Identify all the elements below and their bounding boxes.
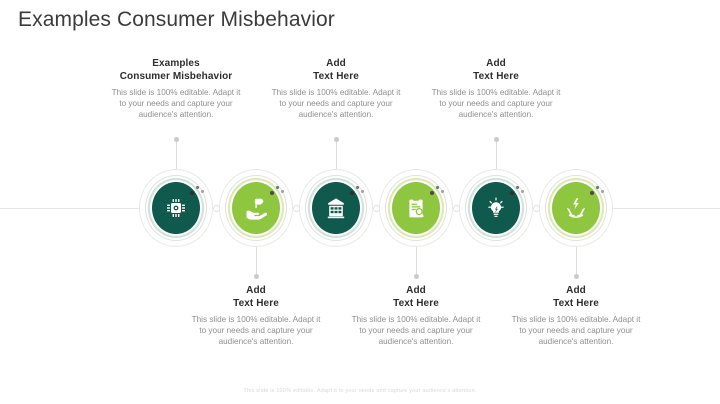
node-accent-dots <box>270 184 288 198</box>
block-body-3: This slide is 100% editable. Adapt it to… <box>256 87 416 120</box>
block-heading-line2: Consumer Misbehavior <box>120 71 233 82</box>
microchip-icon <box>164 196 188 220</box>
clipboard-search-icon <box>404 196 428 220</box>
timeline-nodes: Examples Consumer Misbehavior This slide… <box>0 0 720 404</box>
text-block-3: Add Text Here This slide is 100% editabl… <box>256 58 416 120</box>
node-accent-dots <box>510 184 528 198</box>
block-heading-line2: Text Here <box>233 298 279 309</box>
bank-building-icon <box>324 196 348 220</box>
connector-cap-4 <box>414 274 419 279</box>
hand-holding-plant-icon <box>243 195 269 221</box>
block-heading-line2: Text Here <box>313 71 359 82</box>
text-block-1: Examples Consumer Misbehavior This slide… <box>96 58 256 120</box>
block-body-1: This slide is 100% editable. Adapt it to… <box>96 87 256 120</box>
connector-cap-3 <box>334 137 339 142</box>
block-heading-line1: Add <box>246 285 266 296</box>
node-accent-dots <box>190 184 208 198</box>
slide-footer-note: This slide is 100% editable. Adapt it to… <box>0 388 720 394</box>
block-body-2: This slide is 100% editable. Adapt it to… <box>176 314 336 347</box>
node-accent-dots <box>430 184 448 198</box>
block-heading-line2: Text Here <box>553 298 599 309</box>
node-accent-dots <box>350 184 368 198</box>
text-block-4: Add Text Here This slide is 100% editabl… <box>336 285 496 347</box>
block-heading-line2: Text Here <box>393 298 439 309</box>
connector-cap-1 <box>174 137 179 142</box>
connector-cap-5 <box>494 137 499 142</box>
lightbulb-idea-icon <box>484 196 508 220</box>
hands-energy-bolt-icon <box>563 195 589 221</box>
block-heading-line1: Add <box>406 285 426 296</box>
presentation-slide: Examples Consumer Misbehavior Examples C… <box>0 0 720 404</box>
block-heading-line1: Add <box>566 285 586 296</box>
block-body-4: This slide is 100% editable. Adapt it to… <box>336 314 496 347</box>
node-accent-dots <box>590 184 608 198</box>
connector-cap-6 <box>574 274 579 279</box>
text-block-6: Add Text Here This slide is 100% editabl… <box>496 285 656 347</box>
block-heading-line1: Add <box>486 58 506 69</box>
block-heading-line1: Add <box>326 58 346 69</box>
text-block-5: Add Text Here This slide is 100% editabl… <box>416 58 576 120</box>
block-body-5: This slide is 100% editable. Adapt it to… <box>416 87 576 120</box>
block-heading-line1: Examples <box>152 58 200 69</box>
connector-cap-2 <box>254 274 259 279</box>
block-body-6: This slide is 100% editable. Adapt it to… <box>496 314 656 347</box>
text-block-2: Add Text Here This slide is 100% editabl… <box>176 285 336 347</box>
block-heading-line2: Text Here <box>473 71 519 82</box>
